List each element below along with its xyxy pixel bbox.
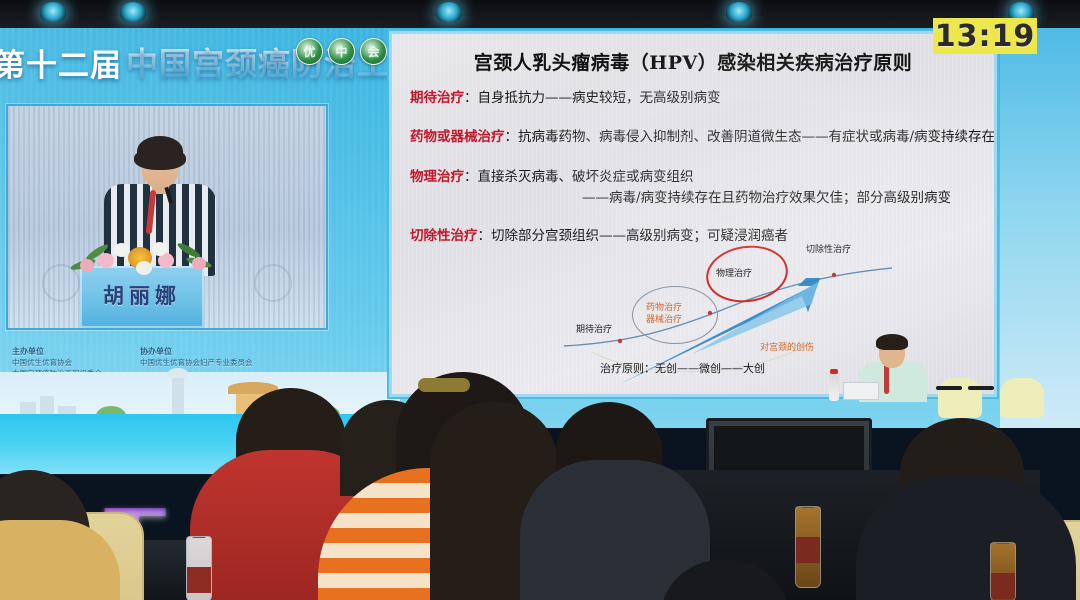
panelist-hair xyxy=(876,334,908,350)
hair-clip-icon xyxy=(418,378,470,392)
bullet-text: 抗病毒药物、病毒侵入抑制剂、改善阴道微生态——有症状或病毒/病变持续存在 xyxy=(518,129,994,145)
stage-light-icon xyxy=(726,2,752,22)
bullet-term: 药物或器械治疗 xyxy=(410,129,505,145)
bullet-text: ——病毒/病变持续存在且药物治疗效果欠佳；部分高级别病变 xyxy=(582,190,951,206)
diagram-label-device: 器械治疗 xyxy=(646,312,682,325)
host-organizer-line: 中国优生优育协会 xyxy=(12,358,72,367)
bullet-sep: ： xyxy=(478,228,492,244)
org-logo-icon: 中 xyxy=(328,38,355,65)
table-water-bottle xyxy=(829,373,839,401)
slide-caption: 治疗原则：无创——微创——大创 xyxy=(600,360,765,376)
bullet-sep: ： xyxy=(464,90,478,106)
speaker-hair xyxy=(137,136,183,166)
coorganizer-block: 协办单位 中国优生优育协会妇产专业委员会 xyxy=(140,346,253,368)
bottle-label xyxy=(187,567,211,593)
slide-bullet: 期待治疗：自身抵抗力——病史较短，无高级别病变 xyxy=(410,86,721,106)
conference-photo: 第十二届 中国宫颈癌防治工程 学术年会 优 中 会 胡丽娜 xyxy=(0,0,1080,600)
slide-bullet-continuation: ——病毒/病变持续存在且药物治疗效果欠佳；部分高级别病变 xyxy=(582,186,951,206)
bottle-label xyxy=(796,537,820,563)
stage-light-icon xyxy=(120,2,146,22)
coorganizer-label: 协办单位 xyxy=(140,347,172,356)
podium: 胡丽娜 xyxy=(80,266,204,328)
table-microphone-icon xyxy=(936,386,962,390)
bottle-cap xyxy=(801,506,815,508)
diagram-label-trauma: 对宫颈的创伤 xyxy=(760,340,814,353)
panelist-lanyard xyxy=(884,364,889,394)
bottle-label xyxy=(991,573,1015,599)
org-logo-icon: 会 xyxy=(360,38,387,65)
flower-arrangement xyxy=(68,239,218,275)
name-placard xyxy=(843,382,879,400)
slide-title: 宫颈人乳头瘤病毒（HPV）感染相关疾病治疗原则 xyxy=(392,48,994,75)
water-bottle xyxy=(795,506,821,588)
clock-display: 13:19 xyxy=(933,18,1037,54)
bottle-cap xyxy=(996,542,1010,544)
clock-tower-roof xyxy=(168,368,188,378)
slide-bullet: 药物或器械治疗：抗病毒药物、病毒侵入抑制剂、改善阴道微生态——有症状或病毒/病变… xyxy=(410,125,994,145)
curve-dot xyxy=(618,339,622,343)
stage-light-icon xyxy=(40,2,66,22)
audience-member xyxy=(856,476,1076,600)
water-bottle xyxy=(186,536,212,600)
bullet-sep: ： xyxy=(505,129,519,145)
bullet-text: 直接杀灭病毒、破坏炎症或病变组织 xyxy=(478,169,694,185)
slide-bullet: 物理治疗：直接杀灭病毒、破坏炎症或病变组织 xyxy=(410,165,694,185)
water-bottle xyxy=(990,542,1016,600)
bullet-term: 期待治疗 xyxy=(410,90,464,106)
bullet-text: 自身抵抗力——病史较短，无高级别病变 xyxy=(478,90,721,106)
podium-nameplate: 胡丽娜 xyxy=(80,280,204,310)
bottle-cap xyxy=(192,536,206,538)
org-logo-icon: 优 xyxy=(296,38,323,65)
bullet-term: 物理治疗 xyxy=(410,169,464,185)
bullet-sep: ： xyxy=(464,169,478,185)
bullet-term: 切除性治疗 xyxy=(410,228,478,244)
table-microphone-icon xyxy=(968,386,994,390)
stage-light-icon xyxy=(436,2,462,22)
diagram-label-physical: 物理治疗 xyxy=(716,266,752,279)
host-organizer-label: 主办单位 xyxy=(12,347,44,356)
organization-logos: 优 中 会 xyxy=(296,38,387,65)
speaker-video-pip: 胡丽娜 xyxy=(6,104,328,330)
diagram-label-expectant: 期待治疗 xyxy=(576,322,612,335)
coorganizer-line: 中国优生优育协会妇产专业委员会 xyxy=(140,358,253,367)
right-wall-panel xyxy=(1000,28,1080,428)
curve-dot xyxy=(832,273,836,277)
diagram-label-excisional: 切除性治疗 xyxy=(806,242,851,255)
banner-prefix: 第十二届 xyxy=(0,40,122,85)
